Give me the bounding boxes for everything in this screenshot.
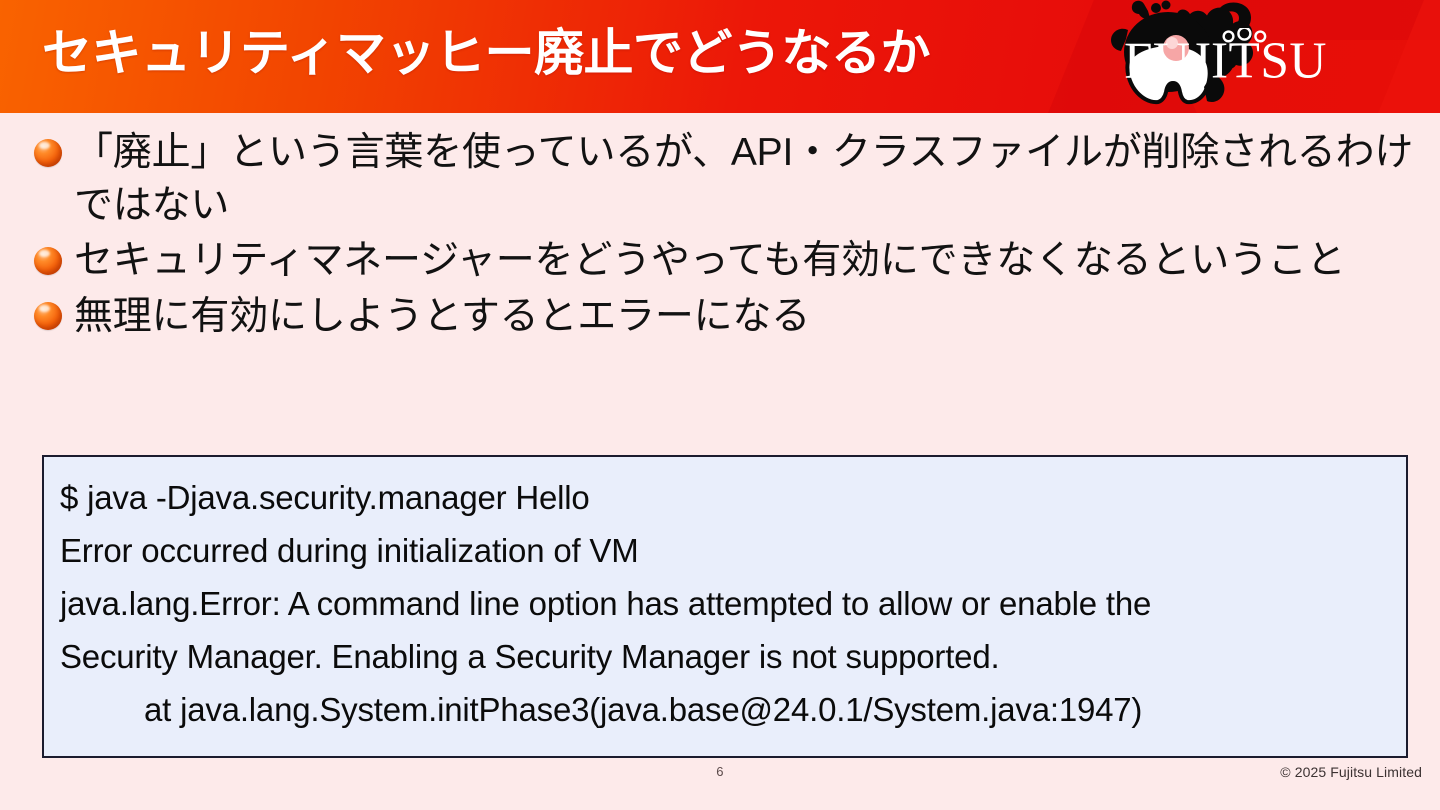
orange-sphere-bullet-icon — [34, 139, 62, 167]
page-number: 6 — [0, 764, 1440, 779]
orange-sphere-bullet-icon — [34, 302, 62, 330]
page-title: セキュリティマッヒー廃止でどうなるか — [42, 17, 1152, 89]
list-item: 無理に有効にしようとするとエラーになる — [34, 289, 1414, 345]
console-line: $ java -Djava.security.manager Hello — [60, 471, 1390, 524]
fujitsu-logo: FUJITSU — [1124, 28, 1404, 84]
presentation-slide: セキュリティマッヒー廃止でどうなるか — [0, 0, 1440, 810]
orange-sphere-bullet-icon — [34, 247, 62, 275]
list-item: 「廃止」という言葉を使っているが、API・クラスファイルが削除されるわけではない — [34, 126, 1414, 232]
list-item-label: セキュリティマネージャーをどうやっても有効にできなくなるということ — [74, 234, 1414, 287]
console-output-box: $ java -Djava.security.manager Hello Err… — [42, 455, 1408, 758]
console-line: Error occurred during initialization of … — [60, 524, 1390, 577]
list-item-label: 「廃止」という言葉を使っているが、API・クラスファイルが削除されるわけではない — [74, 126, 1414, 232]
list-item: セキュリティマネージャーをどうやっても有効にできなくなるということ — [34, 234, 1414, 287]
copyright-notice: © 2025 Fujitsu Limited — [1280, 764, 1422, 780]
list-item-label: 無理に有効にしようとするとエラーになる — [74, 289, 1414, 345]
console-line: Security Manager. Enabling a Security Ma… — [60, 630, 1390, 683]
slide-footer: 6 © 2025 Fujitsu Limited — [0, 762, 1440, 792]
svg-text:FUJITSU: FUJITSU — [1124, 32, 1327, 84]
console-line: java.lang.Error: A command line option h… — [60, 577, 1390, 630]
bullet-list: 「廃止」という言葉を使っているが、API・クラスファイルが削除されるわけではない… — [34, 126, 1414, 347]
console-line: at java.lang.System.initPhase3(java.base… — [60, 683, 1390, 736]
